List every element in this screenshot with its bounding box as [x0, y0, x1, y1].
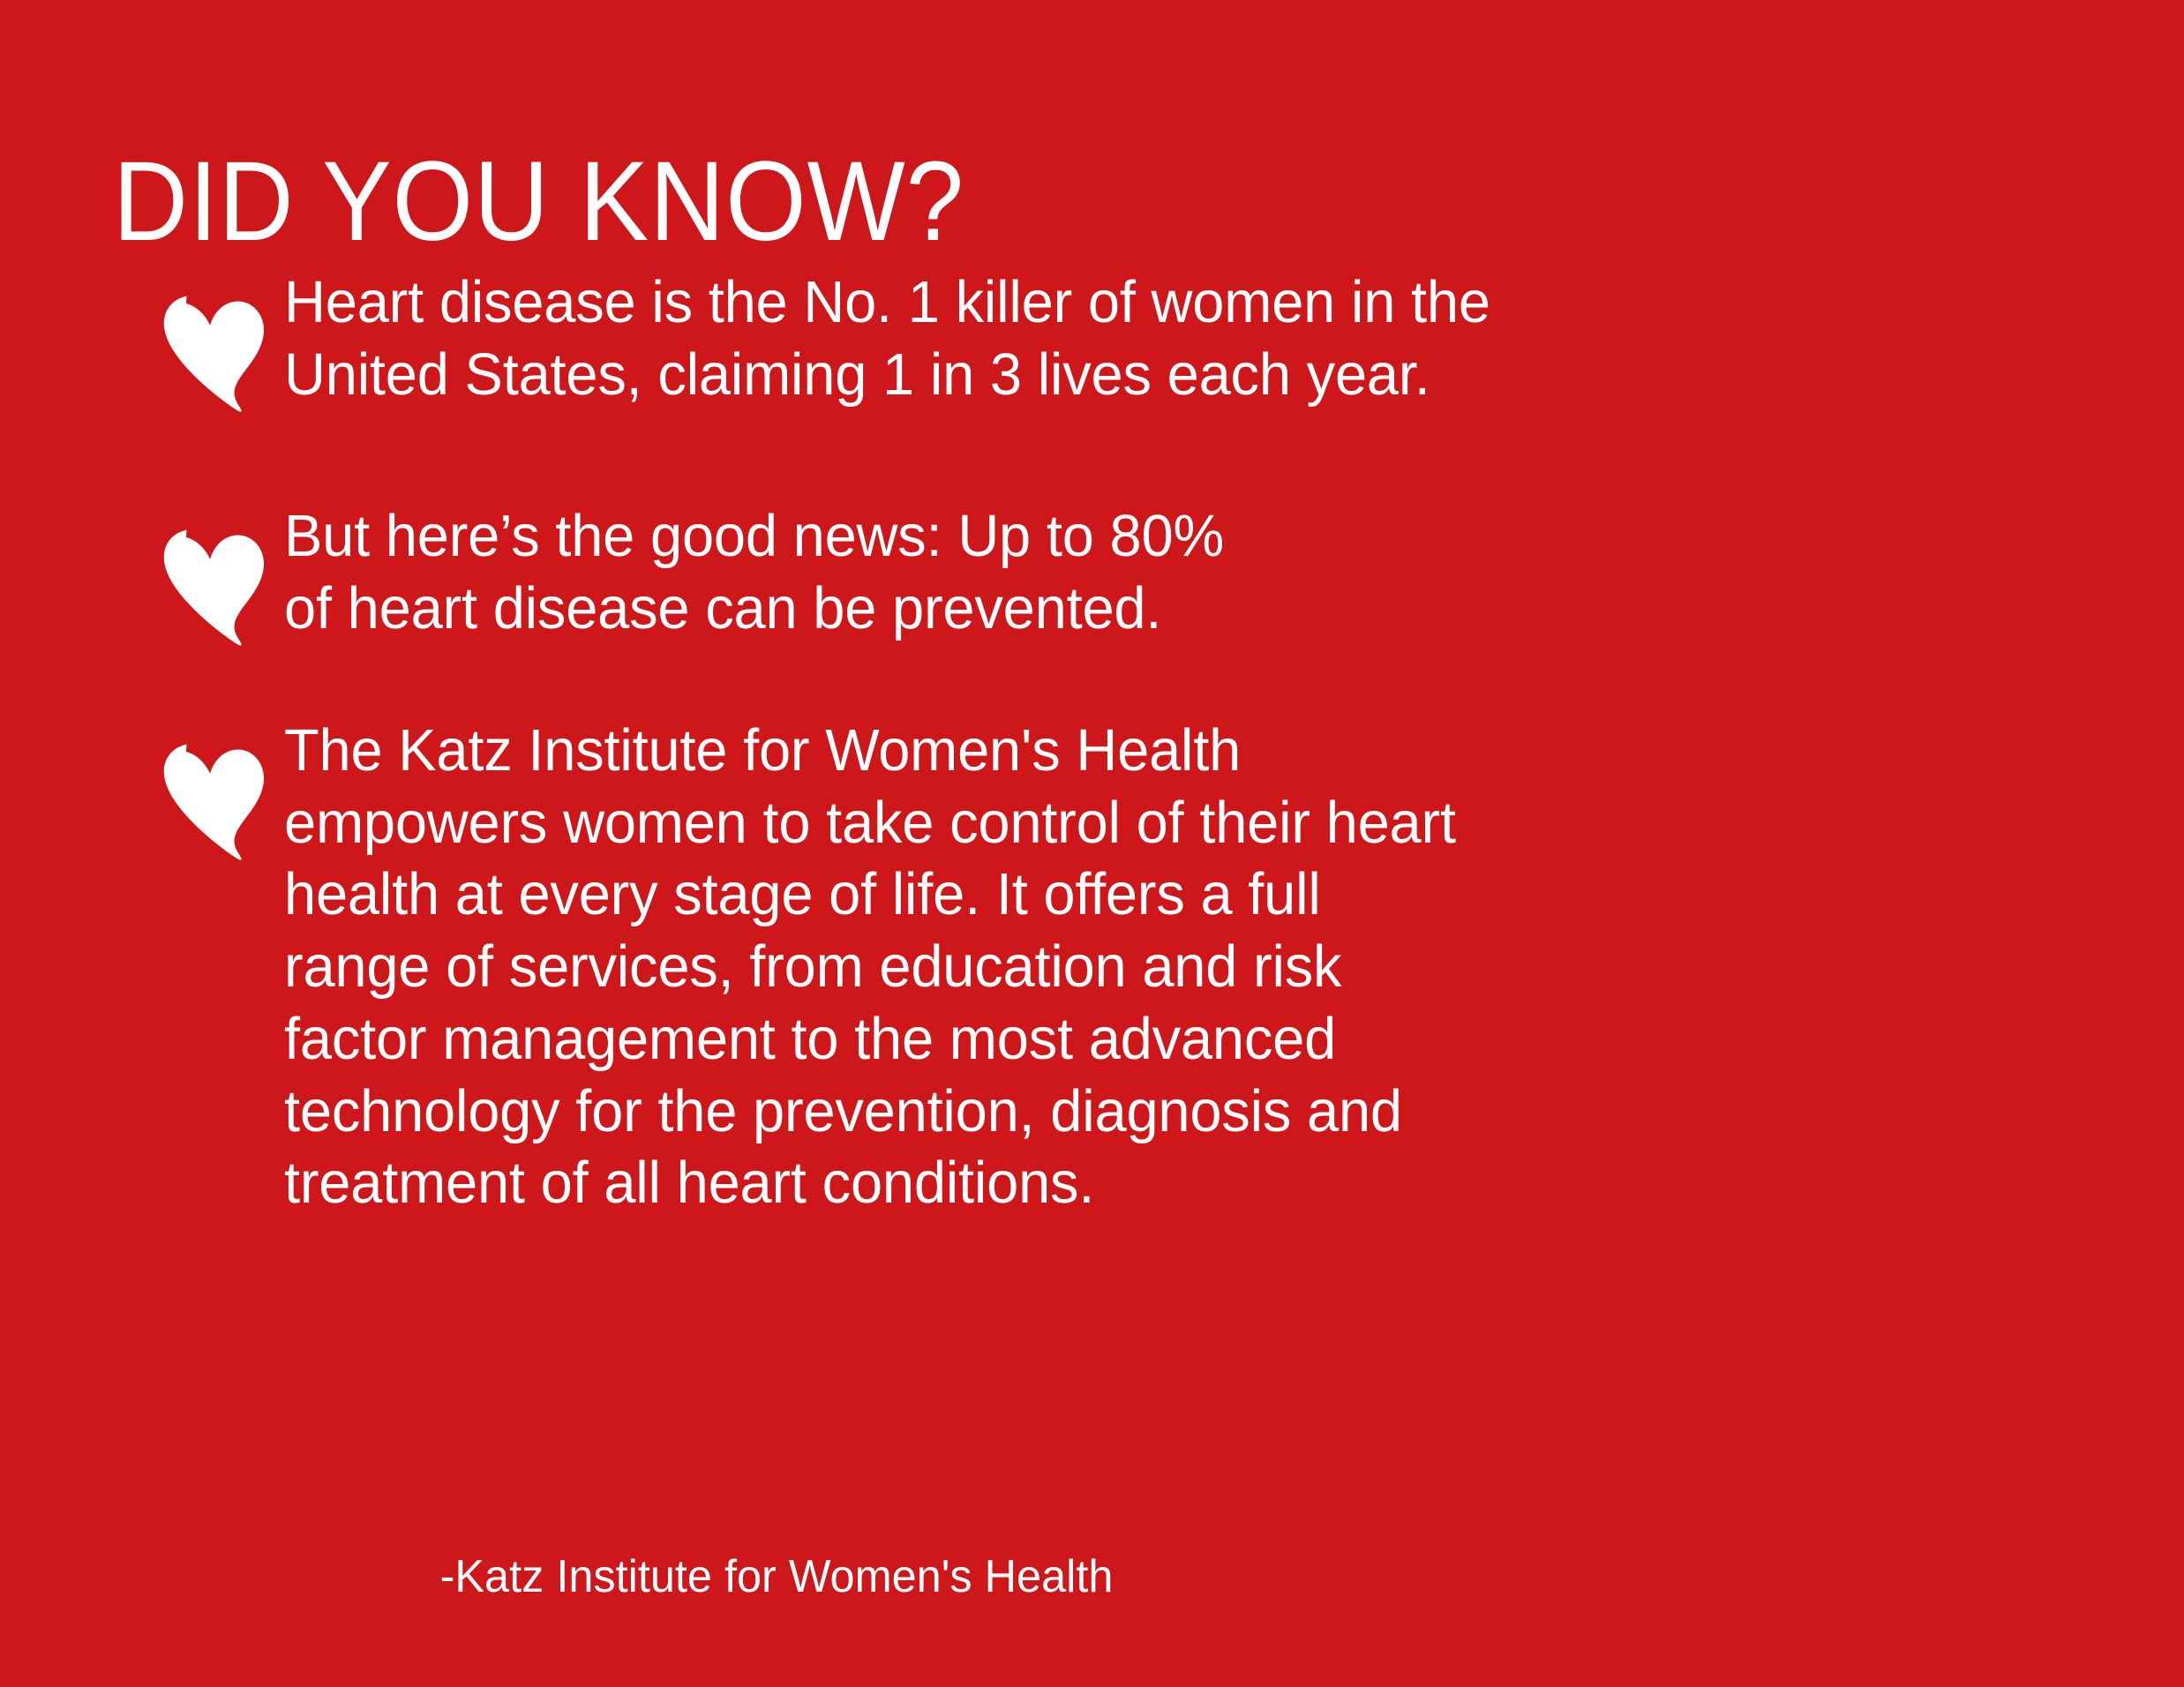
heart-icon	[159, 281, 272, 413]
attribution-source: -Katz Institute for Women's Health	[23, 1549, 1529, 1604]
bullet-list: Heart disease is the No. 1 killer of wom…	[0, 265, 2184, 1219]
list-item-text: But here’s the good news: Up to 80% of h…	[284, 500, 1224, 644]
list-item: Heart disease is the No. 1 killer of wom…	[0, 265, 2184, 413]
heart-icon	[159, 729, 272, 861]
list-item: The Katz Institute for Women's Health em…	[0, 713, 2184, 1219]
list-item-text: The Katz Institute for Women's Health em…	[284, 715, 1456, 1219]
heart-icon	[159, 514, 272, 647]
page-title: DID YOU KNOW?	[113, 145, 964, 260]
list-item: But here’s the good news: Up to 80% of h…	[0, 499, 2184, 647]
list-item-text: Heart disease is the No. 1 killer of wom…	[284, 266, 1490, 410]
did-you-know-poster: DID YOU KNOW? Heart disease is the No. 1…	[0, 0, 2184, 1687]
